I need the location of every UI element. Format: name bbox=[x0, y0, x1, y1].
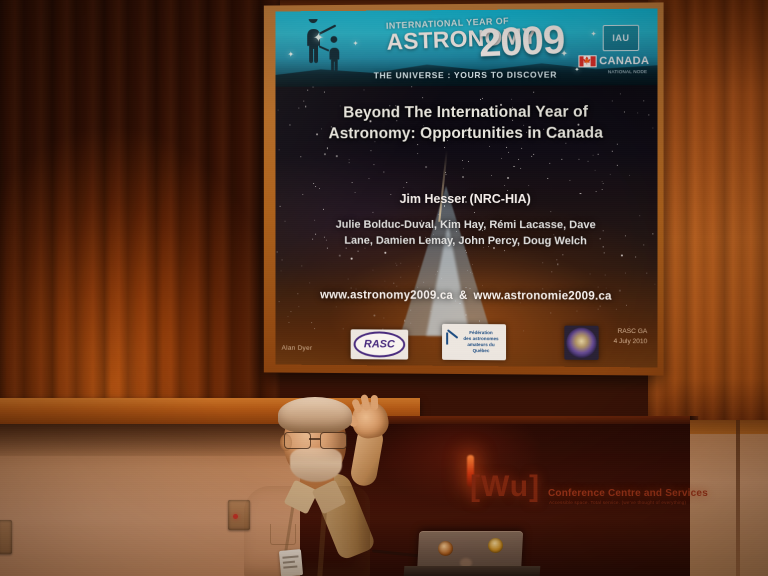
star-speck bbox=[425, 166, 426, 167]
rasc-logo: RASC bbox=[351, 329, 409, 359]
star-speck bbox=[422, 97, 423, 98]
star-speck bbox=[533, 154, 534, 155]
star-speck bbox=[373, 270, 374, 271]
presentation-slide: ✦ ✦ ✦ ✦ ✦ ✦ INTERNATIONAL YEAR OF ASTRON… bbox=[276, 9, 658, 368]
presenter-hair bbox=[278, 397, 352, 433]
coauthors-line-2: Lane, Damien Lemay, John Percy, Doug Wel… bbox=[311, 234, 621, 251]
maple-leaf-icon: 🍁 bbox=[583, 58, 592, 65]
star-speck bbox=[601, 189, 602, 190]
star-speck bbox=[479, 99, 480, 100]
star-speck bbox=[653, 233, 654, 234]
adult-and-child-silhouette-icon bbox=[293, 19, 358, 73]
star-speck bbox=[576, 310, 577, 311]
star-speck bbox=[284, 221, 285, 222]
star-speck bbox=[643, 101, 644, 102]
star-speck bbox=[383, 317, 384, 318]
faaq-line-3: amateurs du bbox=[467, 342, 494, 347]
faaq-line-1: Fédération bbox=[469, 330, 492, 335]
star-speck bbox=[303, 101, 304, 102]
url-french: www.astronomie2009.ca bbox=[474, 290, 612, 303]
star-speck bbox=[319, 188, 320, 189]
star-speck bbox=[298, 306, 299, 307]
star-speck bbox=[655, 283, 656, 284]
star-speck bbox=[468, 161, 469, 162]
star-speck bbox=[347, 279, 348, 280]
slide-title-line-1: Beyond The International Year of bbox=[293, 101, 639, 123]
star-speck bbox=[639, 215, 640, 216]
star-speck bbox=[291, 311, 292, 312]
star-speck bbox=[445, 172, 446, 173]
star-speck bbox=[617, 164, 618, 165]
star-speck bbox=[551, 271, 552, 272]
star-speck bbox=[601, 180, 602, 181]
star-speck bbox=[563, 254, 564, 255]
star-speck bbox=[491, 175, 492, 176]
star-speck bbox=[351, 258, 352, 259]
faaq-logo: Fédération des astronomes amateurs du Qu… bbox=[442, 324, 506, 360]
slide-event-label: RASC GA 4 July 2010 bbox=[614, 327, 648, 347]
star-speck bbox=[598, 309, 599, 310]
wu-logo: [Wu] bbox=[470, 472, 540, 502]
iya2009-banner: ✦ ✦ ✦ ✦ ✦ ✦ INTERNATIONAL YEAR OF ASTRON… bbox=[276, 9, 658, 87]
star-speck bbox=[625, 272, 626, 273]
laptop-sticker bbox=[438, 541, 453, 556]
star-speck bbox=[489, 146, 490, 147]
star-speck bbox=[324, 91, 325, 92]
star-speck bbox=[612, 151, 613, 152]
star-speck bbox=[646, 273, 647, 274]
star-speck bbox=[444, 147, 445, 148]
star-speck bbox=[597, 286, 598, 287]
star-speck bbox=[278, 149, 279, 150]
event-date: 4 July 2010 bbox=[614, 337, 648, 347]
finger bbox=[371, 395, 379, 410]
star-speck bbox=[349, 159, 350, 160]
conference-centre-headline: Conference Centre and Services bbox=[548, 488, 708, 499]
star-speck bbox=[588, 161, 589, 162]
star-speck bbox=[462, 176, 464, 178]
star-speck bbox=[616, 309, 617, 310]
star-speck bbox=[393, 282, 394, 283]
star-speck bbox=[531, 156, 532, 157]
star-speck bbox=[397, 264, 398, 265]
star-speck bbox=[336, 306, 337, 307]
society-emblem-logo bbox=[564, 326, 598, 360]
star-speck bbox=[511, 99, 512, 100]
badge-text-line bbox=[283, 561, 295, 564]
star-speck bbox=[506, 147, 507, 148]
star-speck bbox=[307, 90, 308, 91]
star-speck bbox=[533, 92, 534, 93]
star-speck bbox=[547, 178, 548, 179]
star-speck bbox=[569, 180, 570, 181]
star-speck bbox=[385, 280, 386, 281]
star-speck bbox=[549, 163, 550, 164]
star-speck bbox=[395, 262, 396, 263]
slide-title: Beyond The International Year of Astrono… bbox=[293, 101, 639, 145]
star-speck bbox=[590, 274, 591, 275]
faaq-line-4: Québec bbox=[473, 348, 490, 353]
star-speck bbox=[406, 182, 407, 183]
star-speck bbox=[594, 170, 595, 171]
star-speck bbox=[629, 175, 630, 176]
star-speck bbox=[520, 168, 521, 169]
star-speck bbox=[323, 209, 324, 210]
star-icon: ✦ bbox=[591, 31, 597, 38]
star-speck bbox=[521, 148, 522, 149]
star-speck bbox=[602, 183, 603, 184]
star-speck bbox=[462, 160, 463, 161]
star-speck bbox=[643, 244, 644, 245]
star-speck bbox=[368, 178, 369, 179]
photo-scene: [Wu] Conference Centre and Services Acce… bbox=[0, 0, 768, 576]
star-speck bbox=[396, 285, 397, 286]
star-speck bbox=[313, 183, 314, 184]
star-speck bbox=[279, 206, 280, 207]
slide-coauthors: Julie Bolduc-Duval, Kim Hay, Rémi Lacass… bbox=[311, 218, 621, 250]
badge-text-line bbox=[282, 555, 298, 558]
badge-text-line bbox=[283, 565, 297, 568]
star-speck bbox=[635, 256, 636, 257]
projection-screen: ✦ ✦ ✦ ✦ ✦ ✦ INTERNATIONAL YEAR OF ASTRON… bbox=[276, 9, 658, 368]
star-speck bbox=[278, 109, 279, 110]
star-speck bbox=[373, 314, 375, 316]
iau-logo: IAU bbox=[603, 25, 639, 51]
star-speck bbox=[373, 164, 374, 165]
eyeglasses-icon bbox=[282, 432, 348, 447]
star-speck bbox=[556, 260, 557, 261]
lens-right bbox=[320, 432, 347, 449]
star-speck bbox=[626, 304, 627, 305]
star-speck bbox=[504, 185, 505, 186]
star-speck bbox=[280, 270, 281, 271]
rasc-logo-mark: RASC bbox=[354, 331, 406, 357]
url-separator: & bbox=[453, 290, 473, 302]
slide-presenter-name: Jim Hesser (NRC-HIA) bbox=[276, 192, 658, 206]
star-speck bbox=[542, 263, 543, 264]
star-speck bbox=[648, 115, 649, 116]
star-speck bbox=[625, 235, 626, 236]
event-name: RASC GA bbox=[614, 327, 648, 337]
star-speck bbox=[351, 182, 352, 183]
star-speck bbox=[351, 287, 352, 288]
faaq-logo-text: Fédération des astronomes amateurs du Qu… bbox=[449, 330, 498, 355]
iya-year: 2009 bbox=[478, 18, 565, 67]
star-speck bbox=[363, 89, 364, 90]
star-speck bbox=[528, 185, 529, 186]
canada-wordmark: 🍁 CANADA bbox=[578, 55, 649, 67]
star-speck bbox=[621, 254, 623, 256]
url-english: www.astronomy2009.ca bbox=[320, 289, 453, 302]
star-speck bbox=[417, 153, 418, 154]
star-speck bbox=[518, 159, 519, 160]
star-speck bbox=[281, 259, 282, 260]
star-speck bbox=[336, 155, 337, 156]
star-speck bbox=[604, 252, 605, 253]
star-speck bbox=[605, 274, 606, 275]
star-speck bbox=[598, 153, 599, 154]
laptop-base bbox=[404, 566, 541, 576]
name-badge bbox=[279, 549, 303, 576]
star-speck bbox=[301, 265, 302, 266]
faaq-line-2: des astronomes bbox=[463, 336, 498, 341]
coauthors-line-1: Julie Bolduc-Duval, Kim Hay, Rémi Lacass… bbox=[311, 218, 621, 234]
star-speck bbox=[562, 159, 563, 160]
star-speck bbox=[357, 251, 358, 252]
star-speck bbox=[508, 152, 509, 153]
slide-photo-credit: Alan Dyer bbox=[282, 345, 313, 352]
star-speck bbox=[463, 168, 464, 169]
star-speck bbox=[557, 263, 558, 264]
slide-title-line-2: Astronomy: Opportunities in Canada bbox=[293, 123, 639, 145]
star-speck bbox=[278, 301, 279, 302]
star-speck bbox=[372, 212, 373, 213]
star-speck bbox=[550, 313, 551, 314]
star-speck bbox=[620, 93, 621, 94]
plaster-wall-right-divider bbox=[736, 420, 740, 576]
star-speck bbox=[309, 282, 310, 283]
star-speck bbox=[287, 316, 288, 317]
star-speck bbox=[327, 148, 328, 149]
star-speck bbox=[383, 171, 384, 172]
canada-flag-icon: 🍁 bbox=[578, 55, 596, 67]
star-speck bbox=[482, 98, 483, 99]
star-speck bbox=[339, 255, 341, 257]
slide-logo-row: RASC Fédération des astronomes amateurs … bbox=[276, 323, 658, 366]
star-speck bbox=[507, 190, 508, 191]
star-speck bbox=[610, 173, 611, 174]
star-speck bbox=[652, 127, 653, 128]
shirt-pocket bbox=[270, 524, 296, 545]
star-speck bbox=[504, 250, 505, 251]
star-speck bbox=[445, 174, 446, 175]
star-speck bbox=[324, 153, 326, 155]
plaster-wall-right-trim bbox=[690, 420, 768, 434]
light-switch-plate bbox=[0, 520, 12, 554]
rasc-monogram: RASC bbox=[364, 338, 395, 350]
star-speck bbox=[507, 177, 508, 178]
star-speck bbox=[513, 166, 514, 167]
star-speck bbox=[370, 150, 371, 151]
society-emblem-mark bbox=[566, 328, 596, 358]
wood-panel-right bbox=[648, 0, 768, 430]
star-speck bbox=[501, 158, 502, 159]
presenter-raised-hand bbox=[349, 399, 391, 441]
star-speck bbox=[592, 155, 593, 156]
glasses-bridge bbox=[309, 438, 320, 440]
conference-centre-tagline: Accessible space. Total service. (we've … bbox=[549, 500, 686, 505]
canada-sublabel: NATIONAL NODE bbox=[608, 69, 647, 74]
wood-panel-left bbox=[0, 0, 280, 420]
star-speck bbox=[276, 251, 277, 252]
iya-tagline: THE UNIVERSE : YOURS TO DISCOVER bbox=[276, 69, 658, 81]
star-speck bbox=[550, 211, 551, 212]
star-speck bbox=[605, 288, 606, 289]
star-speck bbox=[349, 163, 350, 164]
star-speck bbox=[578, 159, 579, 160]
star-speck bbox=[411, 86, 412, 87]
laptop-sticker bbox=[488, 538, 503, 553]
slide-urls: www.astronomy2009.ca&www.astronomie2009.… bbox=[276, 289, 658, 303]
star-speck bbox=[542, 288, 543, 289]
star-speck bbox=[300, 156, 301, 157]
star-speck bbox=[315, 186, 316, 187]
star-speck bbox=[385, 252, 387, 254]
presenter-beard bbox=[290, 448, 342, 482]
star-speck bbox=[289, 124, 290, 125]
star-speck bbox=[600, 306, 601, 307]
lens-left bbox=[284, 432, 311, 449]
canada-label: CANADA bbox=[599, 55, 649, 67]
